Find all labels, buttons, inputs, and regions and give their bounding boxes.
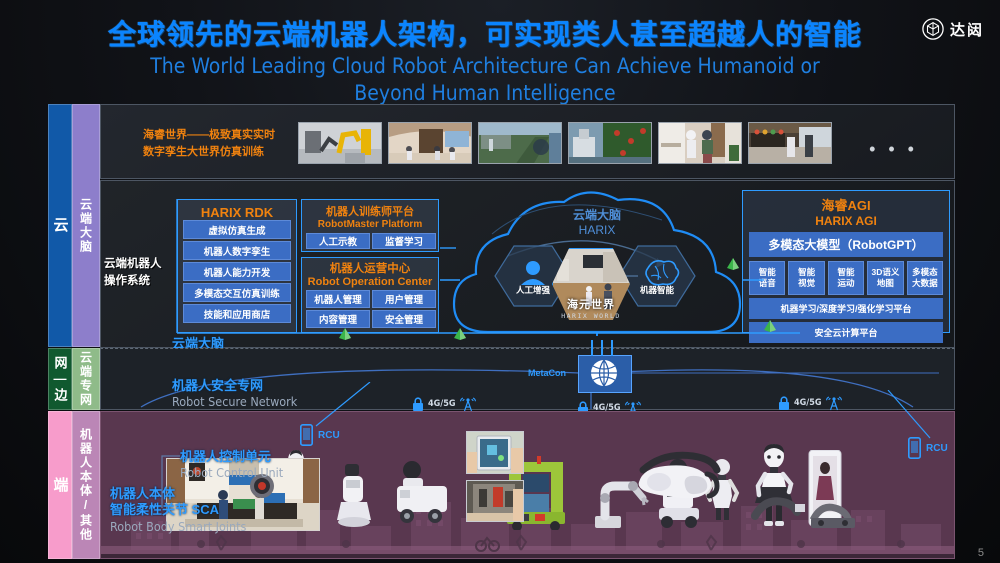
rdk-item-3[interactable]: 多模态交互仿真训练 [183,283,291,302]
rmp-title-cn: 机器人训练师平台 [302,203,438,219]
rdk-item-4[interactable]: 技能和应用商店 [183,304,291,323]
node-machine-intelligence[interactable]: 机器智能 [627,284,687,296]
metacon-globe-box[interactable] [578,355,632,393]
thumbnail-factory-robot-arms [298,122,382,164]
title-chinese: 全球领先的云端机器人架构，可实现类人甚至超越人的智能 [60,18,910,52]
antenna-icon [826,395,842,411]
roc-title-cn: 机器人运营中心 [302,260,438,276]
link-badge-icon [725,256,741,272]
lock-icon [412,397,424,411]
lock-icon [778,396,790,410]
thumbnail-airport-lobby-robots [388,122,472,164]
endpoint-layer-panel [100,411,955,559]
agi-platform-row-0[interactable]: 机器学习/深度学习/强化学习平台 [749,298,943,319]
roc-item-0[interactable]: 机器人管理 [306,290,370,308]
phone-icon [908,437,921,459]
rail-network-edge: 网—边 [48,348,72,410]
agi-capability-grid: 智能语音 智能视觉 智能运动 3D语义地图 多模态大数据 [749,261,943,295]
cube-logo-icon [922,18,944,40]
signal-label-2: 4G/5G [794,398,822,408]
rail-endpoint: 端 [48,411,72,559]
rdk-item-0[interactable]: 虚拟仿真生成 [183,220,291,239]
service-robot-cleaner [333,462,375,528]
rdk-item-2[interactable]: 机器人能力开发 [183,262,291,281]
metacon-uplinks [586,340,626,356]
caption-secure-network-cn: 机器人安全专网 [172,378,297,394]
harix-agi-box[interactable]: 海睿AGI HARIX AGI 多模态大模型（RobotGPT） 智能语音 智能… [742,190,950,333]
caption-body-en: Robot Body Smart Joints [110,519,246,535]
digital-twin-label-line1: 海睿世界——极致真实实时 [143,127,275,144]
rmp-item-1[interactable]: 监督学习 [372,233,436,249]
cloud-robot-os-label: 云端机器人操作系统 [104,256,182,289]
caption-rcu-cn: 机器人控制单元 [180,449,283,465]
photo-phone-ar-street [466,480,524,522]
phone-icon [300,424,313,446]
caption-robot-body: 机器人本体 智能柔性关节 SCA Robot Body Smart Joints [110,486,246,534]
rdk-item-1[interactable]: 机器人数字孪生 [183,241,291,260]
agi-platform-row-1[interactable]: 安全云计算平台 [749,322,943,343]
link-badge-icon [337,326,353,342]
harix-world-en: HARIX WORLD [552,312,630,320]
cloud-brain-title-cn: 云端大脑 [547,206,647,223]
roc-title-en: Robot Operation Center [302,276,438,288]
rcu-label-left: RCU [318,430,340,441]
brand-logo: 达闼 [922,18,984,40]
page-title: 全球领先的云端机器人架构，可实现类人甚至超越人的智能 The World Lea… [60,18,910,107]
link-badge-icon [762,318,778,334]
harix-world-cn: 海元世界 [552,296,630,312]
title-english-line2: Beyond Human Intelligence [60,81,910,107]
digital-twin-strip: 海睿世界——极致真实实时 数字孪生大世界仿真训练 [100,104,955,179]
agi-capability-3[interactable]: 3D语义地图 [867,261,903,295]
caption-secure-network: 机器人安全专网 Robot Secure Network [172,378,297,410]
rmp-item-0[interactable]: 人工示教 [306,233,370,249]
signal-marker-2: 4G/5G [778,395,842,411]
signal-label-0: 4G/5G [428,399,456,409]
agi-capability-0[interactable]: 智能语音 [749,261,785,295]
logo-text: 达闼 [950,19,984,40]
metacon-label: MetaCon [528,368,566,378]
agi-title-cn: 海睿AGI [743,195,949,214]
caption-body-cn-1: 机器人本体 [110,486,246,502]
thumbnail-city-aerial-digital-twin [478,122,562,164]
rcu-marker-right: RCU [908,437,948,459]
thumbnail-cafe-service-scene [748,122,832,164]
digital-twin-label: 海睿世界——极致真实实时 数字孪生大世界仿真训练 [143,127,275,160]
vr-headset [631,450,723,512]
harix-world-caption: 海元世界 HARIX WORLD [552,296,630,320]
thumbnail-ellipsis: • • • [869,139,918,160]
slide-root: 全球领先的云端机器人架构，可实现类人甚至超越人的智能 The World Lea… [0,0,1000,563]
caption-body-cn-2: 智能柔性关节 SCA [110,502,246,518]
rail-cloud-brain: 云端大脑 [72,104,100,347]
rcu-marker-left: RCU [300,424,340,446]
photo-tablet-ar [466,431,524,474]
rail-cloud-private-net: 云端专网 [72,348,100,410]
rcu-label-right: RCU [926,443,948,454]
delivery-robot [391,460,453,528]
agi-title-en: HARIX AGI [743,214,949,228]
agi-capability-1[interactable]: 智能视觉 [788,261,824,295]
page-number: 5 [978,547,984,559]
rmp-title-en: RobotMaster Platform [302,219,438,230]
agi-capability-2[interactable]: 智能运动 [828,261,864,295]
caption-secure-network-en: Robot Secure Network [172,394,297,410]
rail-robot-body-other: 机器人本体/其他 [72,411,100,559]
globe-icon [579,356,629,390]
harix-rdk-title: HARIX RDK [178,205,296,220]
link-badge-icon [452,326,468,342]
signal-marker-0: 4G/5G [412,396,476,412]
digital-twin-label-line2: 数字孪生大世界仿真训练 [143,144,275,161]
wearable-exoskeleton [749,490,859,530]
thumbnail-indoor-robot-and-person [658,122,742,164]
roc-item-3[interactable]: 安全管理 [372,310,436,328]
title-english-line1: The World Leading Cloud Robot Architectu… [60,54,910,80]
rail-cloud: 云 [48,104,72,347]
agi-capability-4[interactable]: 多模态大数据 [907,261,943,295]
caption-robot-control-unit: 机器人控制单元 Robot Control Unit [180,449,283,481]
roc-item-1[interactable]: 用户管理 [372,290,436,308]
caption-rcu-en: Robot Control Unit [180,465,283,481]
antenna-icon [460,396,476,412]
cloud-brain-title-en: HARIX [547,223,647,237]
agi-model-bar[interactable]: 多模态大模型（RobotGPT） [749,232,943,257]
thumbnail-street-greenhouse-robot [568,122,652,164]
